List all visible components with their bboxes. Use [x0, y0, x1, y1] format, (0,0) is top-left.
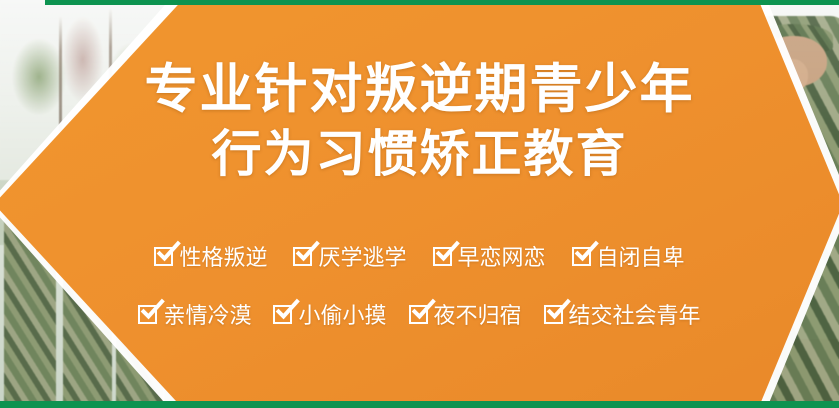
feature-item[interactable]: 性格叛逆 — [154, 240, 267, 272]
feature-label: 亲情冷漠 — [163, 298, 251, 330]
feature-item[interactable]: 亲情冷漠 — [138, 298, 251, 330]
promotional-banner: 专业针对叛逆期青少年 行为习惯矫正教育 性格叛逆 — [0, 0, 839, 408]
feature-label: 小偷小摸 — [298, 298, 386, 330]
feature-label: 厌学逃学 — [318, 240, 406, 272]
feature-list: 性格叛逆 厌学逃学 早恋网恋 — [0, 240, 839, 356]
feature-label: 夜不归宿 — [434, 298, 522, 330]
feature-item[interactable]: 小偷小摸 — [273, 298, 386, 330]
checkbox-checked-icon[interactable] — [433, 247, 452, 266]
checkbox-checked-icon[interactable] — [138, 305, 157, 324]
checkbox-checked-icon[interactable] — [572, 247, 591, 266]
headline: 专业针对叛逆期青少年 行为习惯矫正教育 — [0, 62, 839, 181]
feature-label: 早恋网恋 — [458, 240, 546, 272]
feature-item[interactable]: 夜不归宿 — [409, 298, 522, 330]
feature-row-2: 亲情冷漠 小偷小摸 夜不归宿 — [0, 298, 839, 330]
feature-item[interactable]: 结交社会青年 — [544, 298, 701, 330]
headline-line-2: 行为习惯矫正教育 — [0, 128, 839, 181]
checkbox-checked-icon[interactable] — [273, 305, 292, 324]
feature-label: 结交社会青年 — [569, 298, 701, 330]
feature-item[interactable]: 自闭自卑 — [572, 240, 685, 272]
feature-label: 性格叛逆 — [179, 240, 267, 272]
feature-label: 自闭自卑 — [597, 240, 685, 272]
feature-item[interactable]: 早恋网恋 — [433, 240, 546, 272]
checkbox-checked-icon[interactable] — [293, 247, 312, 266]
checkbox-checked-icon[interactable] — [154, 247, 173, 266]
banner-content: 专业针对叛逆期青少年 行为习惯矫正教育 性格叛逆 — [0, 0, 839, 408]
feature-row-1: 性格叛逆 厌学逃学 早恋网恋 — [0, 240, 839, 272]
feature-item[interactable]: 厌学逃学 — [293, 240, 406, 272]
checkbox-checked-icon[interactable] — [544, 305, 563, 324]
headline-line-1: 专业针对叛逆期青少年 — [0, 62, 839, 118]
checkbox-checked-icon[interactable] — [409, 305, 428, 324]
